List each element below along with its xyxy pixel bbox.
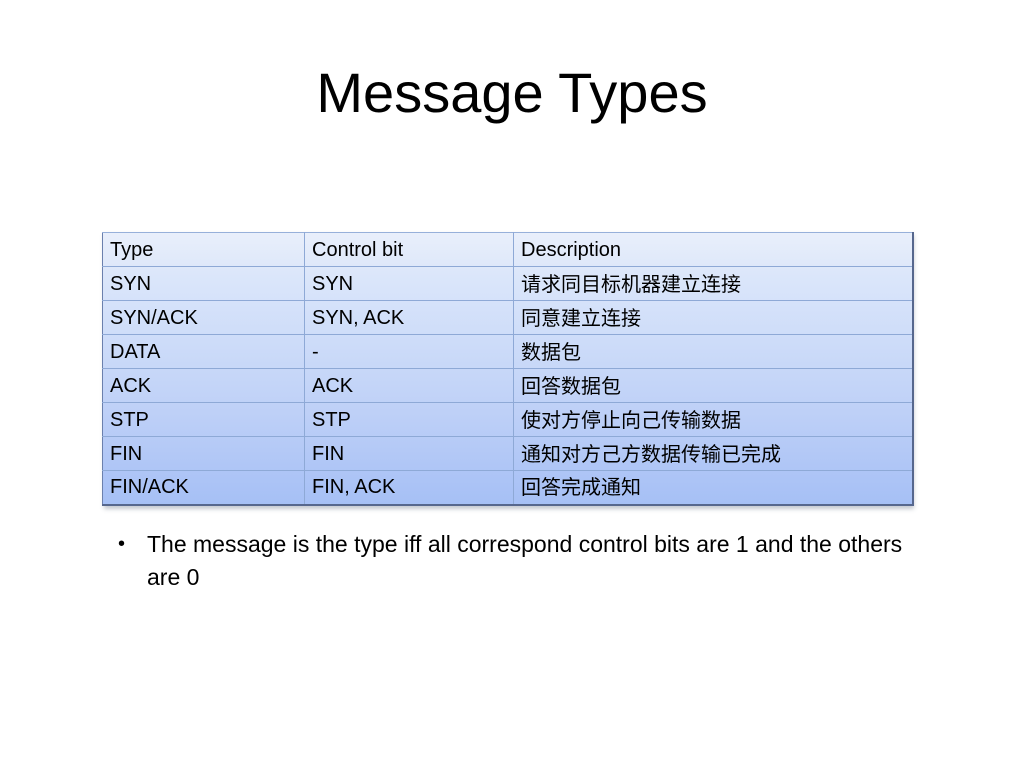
bullet-point-icon: • bbox=[113, 528, 147, 561]
cell-description: 通知对方己方数据传输已完成 bbox=[514, 437, 913, 471]
message-types-table: Type Control bit Description SYN SYN 请求同… bbox=[102, 232, 912, 506]
table-row: FIN FIN 通知对方己方数据传输已完成 bbox=[103, 437, 913, 471]
cell-description: 请求同目标机器建立连接 bbox=[514, 267, 913, 301]
table-row: STP STP 使对方停止向己传输数据 bbox=[103, 403, 913, 437]
cell-control-bit: - bbox=[305, 335, 514, 369]
bullet-list: • The message is the type iff all corres… bbox=[113, 528, 903, 594]
table-header-row: Type Control bit Description bbox=[103, 233, 913, 267]
cell-type: SYN bbox=[103, 267, 305, 301]
cell-control-bit: FIN bbox=[305, 437, 514, 471]
cell-type: FIN/ACK bbox=[103, 471, 305, 505]
cell-type: FIN bbox=[103, 437, 305, 471]
table-row: ACK ACK 回答数据包 bbox=[103, 369, 913, 403]
list-item: • The message is the type iff all corres… bbox=[113, 528, 903, 594]
page-title: Message Types bbox=[0, 57, 1024, 129]
column-header-control-bit: Control bit bbox=[305, 233, 514, 267]
cell-description: 使对方停止向己传输数据 bbox=[514, 403, 913, 437]
table-row: FIN/ACK FIN, ACK 回答完成通知 bbox=[103, 471, 913, 505]
cell-description: 回答完成通知 bbox=[514, 471, 913, 505]
cell-type: ACK bbox=[103, 369, 305, 403]
cell-control-bit: ACK bbox=[305, 369, 514, 403]
table-row: DATA - 数据包 bbox=[103, 335, 913, 369]
table-row: SYN SYN 请求同目标机器建立连接 bbox=[103, 267, 913, 301]
cell-type: SYN/ACK bbox=[103, 301, 305, 335]
column-header-type: Type bbox=[103, 233, 305, 267]
cell-control-bit: FIN, ACK bbox=[305, 471, 514, 505]
cell-type: DATA bbox=[103, 335, 305, 369]
bullet-text: The message is the type iff all correspo… bbox=[147, 528, 903, 594]
cell-type: STP bbox=[103, 403, 305, 437]
cell-control-bit: SYN bbox=[305, 267, 514, 301]
table-row: SYN/ACK SYN, ACK 同意建立连接 bbox=[103, 301, 913, 335]
cell-control-bit: STP bbox=[305, 403, 514, 437]
cell-description: 数据包 bbox=[514, 335, 913, 369]
cell-description: 同意建立连接 bbox=[514, 301, 913, 335]
cell-description: 回答数据包 bbox=[514, 369, 913, 403]
column-header-description: Description bbox=[514, 233, 913, 267]
cell-control-bit: SYN, ACK bbox=[305, 301, 514, 335]
